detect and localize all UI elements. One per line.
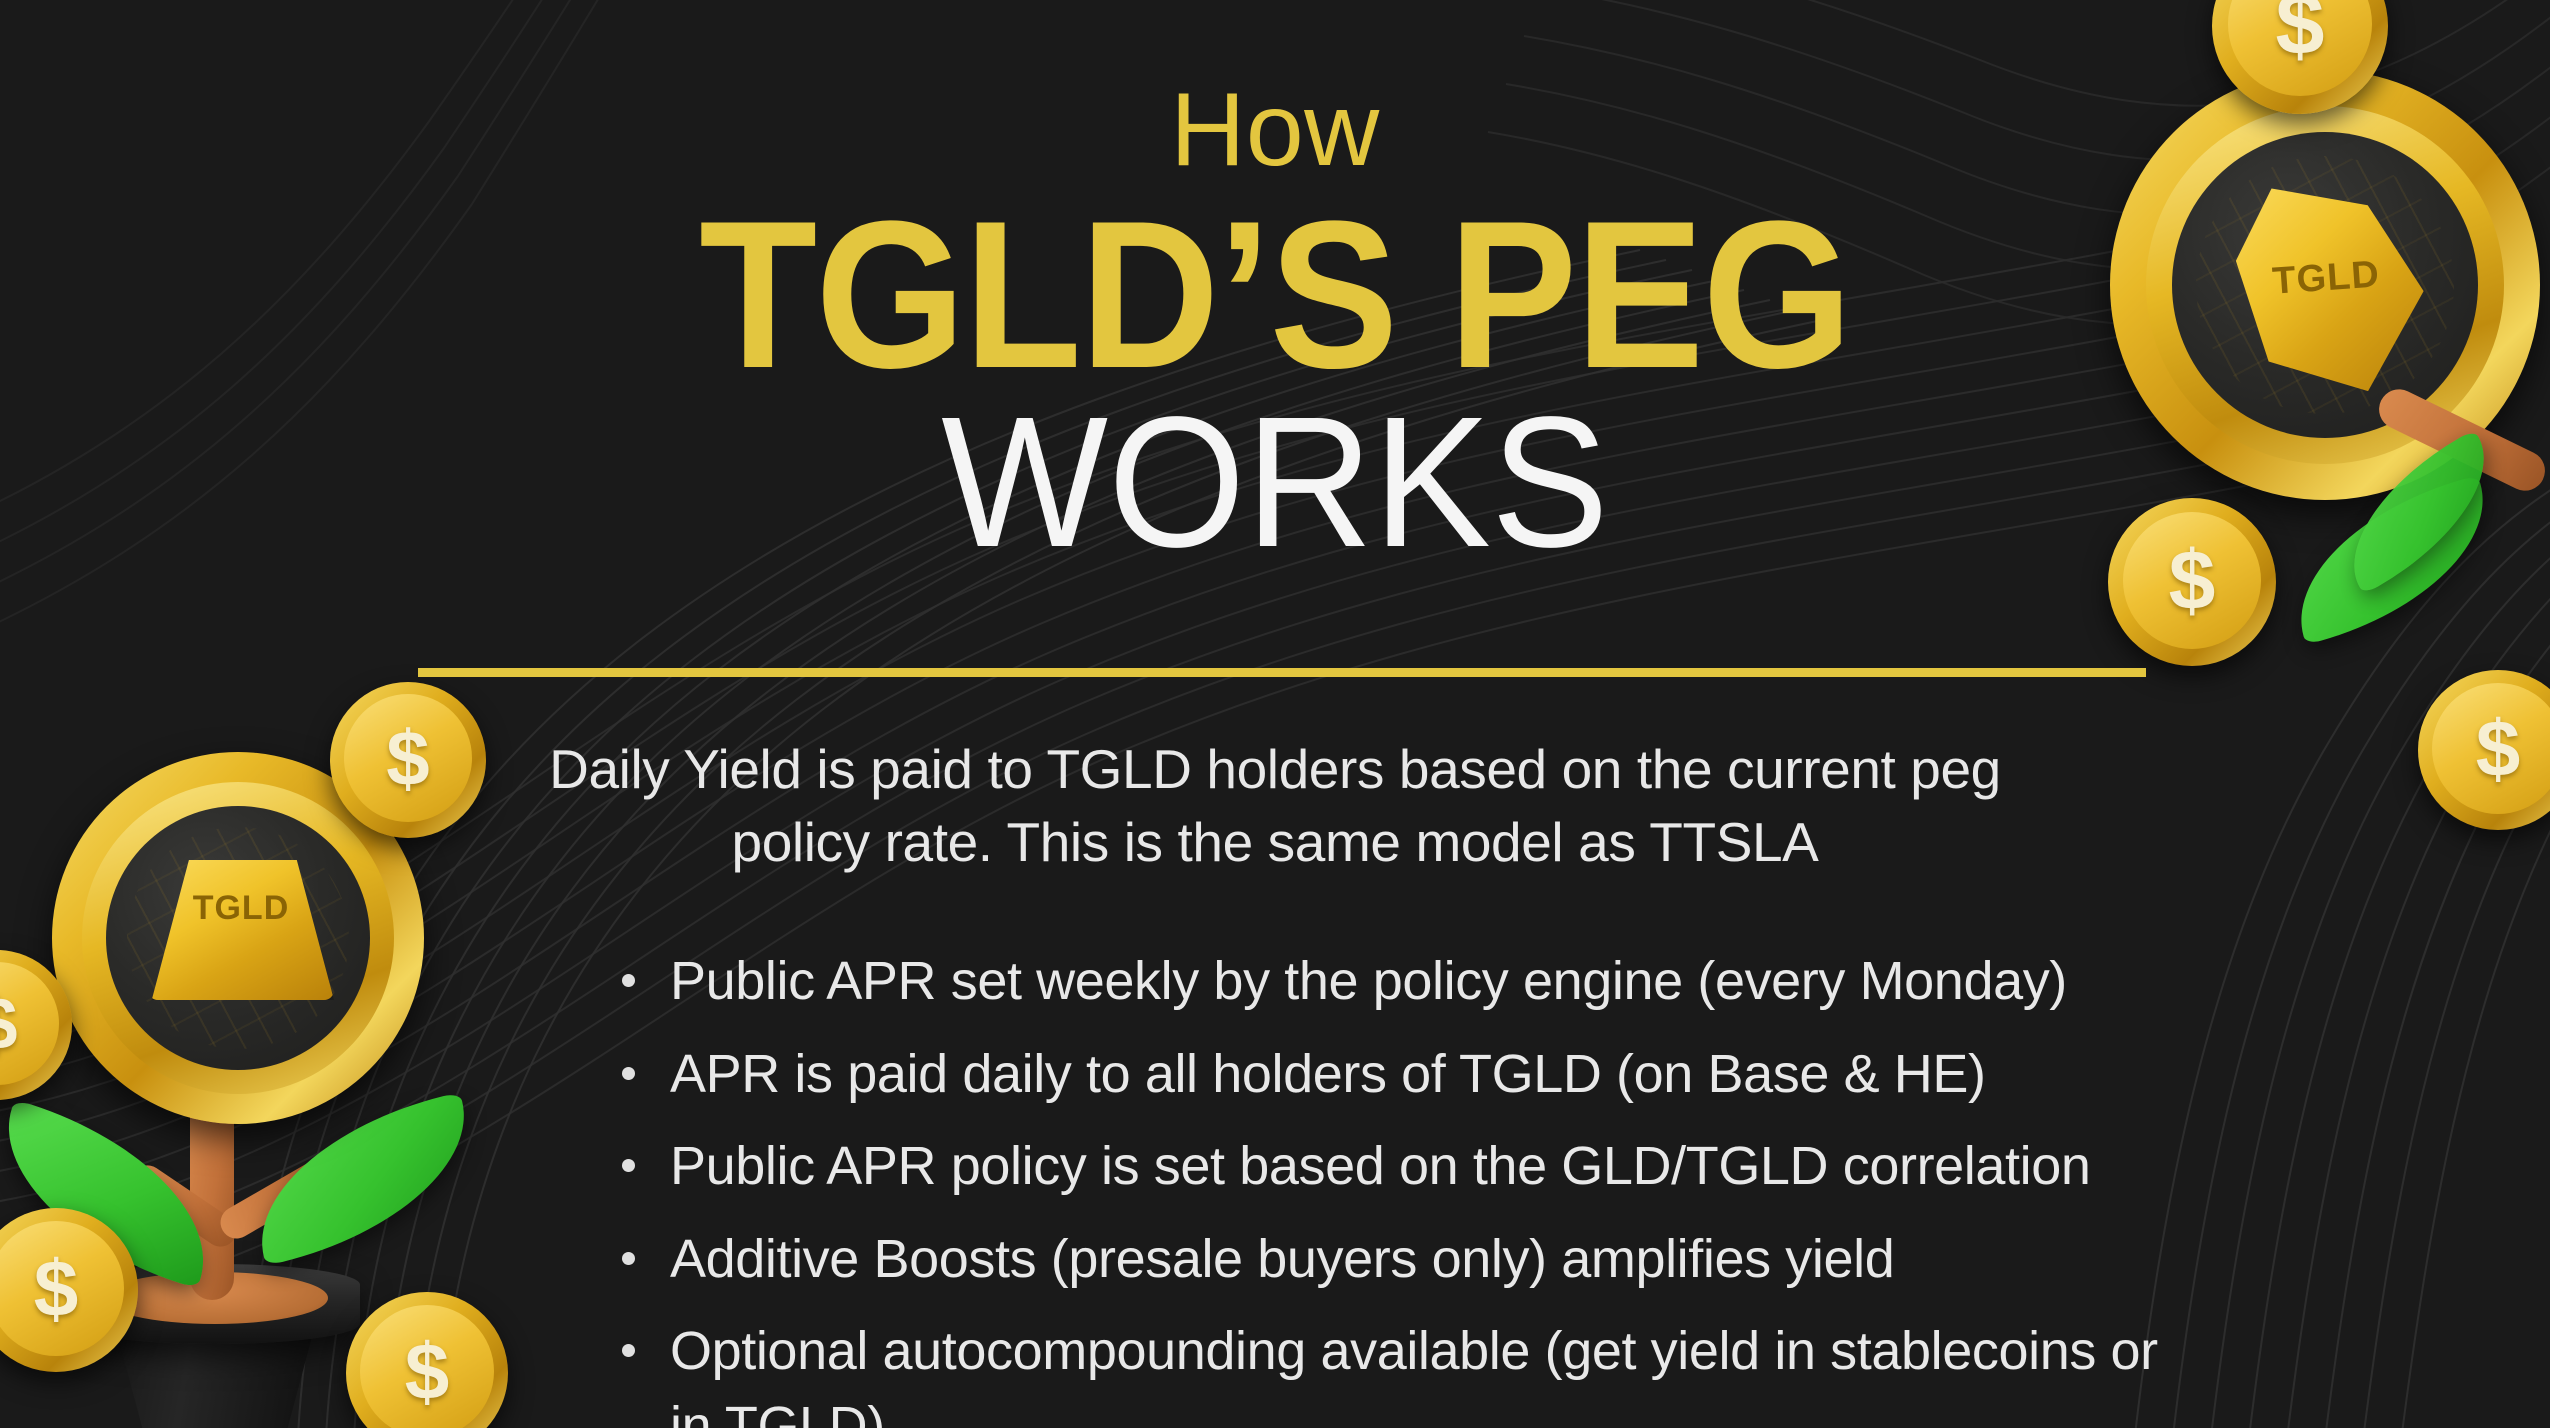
list-item-label: Public APR policy is set based on the GL… (670, 1136, 2090, 1196)
gold-divider-rule (418, 668, 2146, 677)
dollar-symbol: $ (386, 713, 429, 804)
list-item: Optional autocompounding available (get … (612, 1314, 2172, 1428)
coin-inner: $ (2432, 683, 2550, 814)
list-item: Public APR policy is set based on the GL… (612, 1129, 2172, 1204)
dollar-coin-left-edge-icon: $ (0, 950, 72, 1100)
intro-paragraph: Daily Yield is paid to TGLD holders base… (540, 733, 2010, 878)
list-item-label: Optional autocompounding available (get … (670, 1321, 2158, 1428)
dollar-coin-bottom-left-icon: $ (0, 1208, 138, 1372)
coin-inner-ring (82, 782, 394, 1094)
plant-branch-left (125, 1159, 242, 1253)
dollar-coin-right-lower-icon: $ (2418, 670, 2550, 830)
headline-block: How TGLD’S PEG WORKS (0, 78, 2550, 572)
plant-main-stem (190, 1060, 234, 1300)
gold-bar-label: TGLD (193, 889, 290, 928)
list-item-label: Additive Boosts (presale buyers only) am… (670, 1229, 1894, 1289)
plant-branch-right (215, 1152, 344, 1245)
feature-bullet-list: Public APR set weekly by the policy engi… (612, 944, 2172, 1428)
dollar-symbol: $ (34, 1243, 79, 1335)
dollar-coin-left-upper-icon: $ (330, 682, 486, 838)
bullet-dot-icon (622, 1344, 635, 1357)
coin-inner: $ (344, 694, 472, 822)
leaf-lower-left-icon (0, 1099, 235, 1289)
dollar-symbol: $ (0, 981, 18, 1066)
coin-edge (0, 950, 72, 1100)
dollar-symbol: $ (2476, 703, 2521, 795)
coin-inner: $ (0, 1221, 124, 1356)
plant-pot-body (90, 1288, 340, 1428)
coin-edge (330, 682, 486, 838)
coin-edge (2418, 670, 2550, 830)
plant-pot-soil (102, 1272, 328, 1324)
coin-inner: $ (0, 962, 59, 1085)
bullet-dot-icon (622, 1067, 635, 1080)
infographic-slide: How TGLD’S PEG WORKS Daily Yield is paid… (0, 0, 2550, 1428)
dollar-coin-bottom-center-left-icon: $ (346, 1292, 508, 1428)
dollar-symbol: $ (2276, 0, 2325, 75)
coin-face (106, 806, 370, 1070)
list-item: Public APR set weekly by the policy engi… (612, 944, 2172, 1019)
headline-eyebrow: How (0, 78, 2550, 182)
bullet-dot-icon (622, 1159, 635, 1172)
list-item: APR is paid daily to all holders of TGLD… (612, 1037, 2172, 1112)
headline-line-1: TGLD’S PEG (102, 198, 2448, 391)
coin-outer-ring (52, 752, 424, 1124)
plant-pot-rim (70, 1264, 360, 1344)
dollar-symbol: $ (405, 1326, 450, 1418)
coin-edge (0, 1208, 138, 1372)
gold-bar-shape: TGLD (148, 860, 334, 1000)
list-item-label: APR is paid daily to all holders of TGLD… (670, 1044, 1986, 1104)
leaf-lower-right-icon (237, 1092, 490, 1266)
tgld-medallion-left-icon: TGLD (52, 752, 424, 1124)
coin-inner: $ (360, 1305, 494, 1428)
list-item: Additive Boosts (presale buyers only) am… (612, 1222, 2172, 1297)
bullet-dot-icon (622, 1252, 635, 1265)
bullet-dot-icon (622, 974, 635, 987)
headline-line-2: WORKS (64, 395, 2487, 572)
list-item-label: Public APR set weekly by the policy engi… (670, 951, 2067, 1011)
coin-edge (346, 1292, 508, 1428)
